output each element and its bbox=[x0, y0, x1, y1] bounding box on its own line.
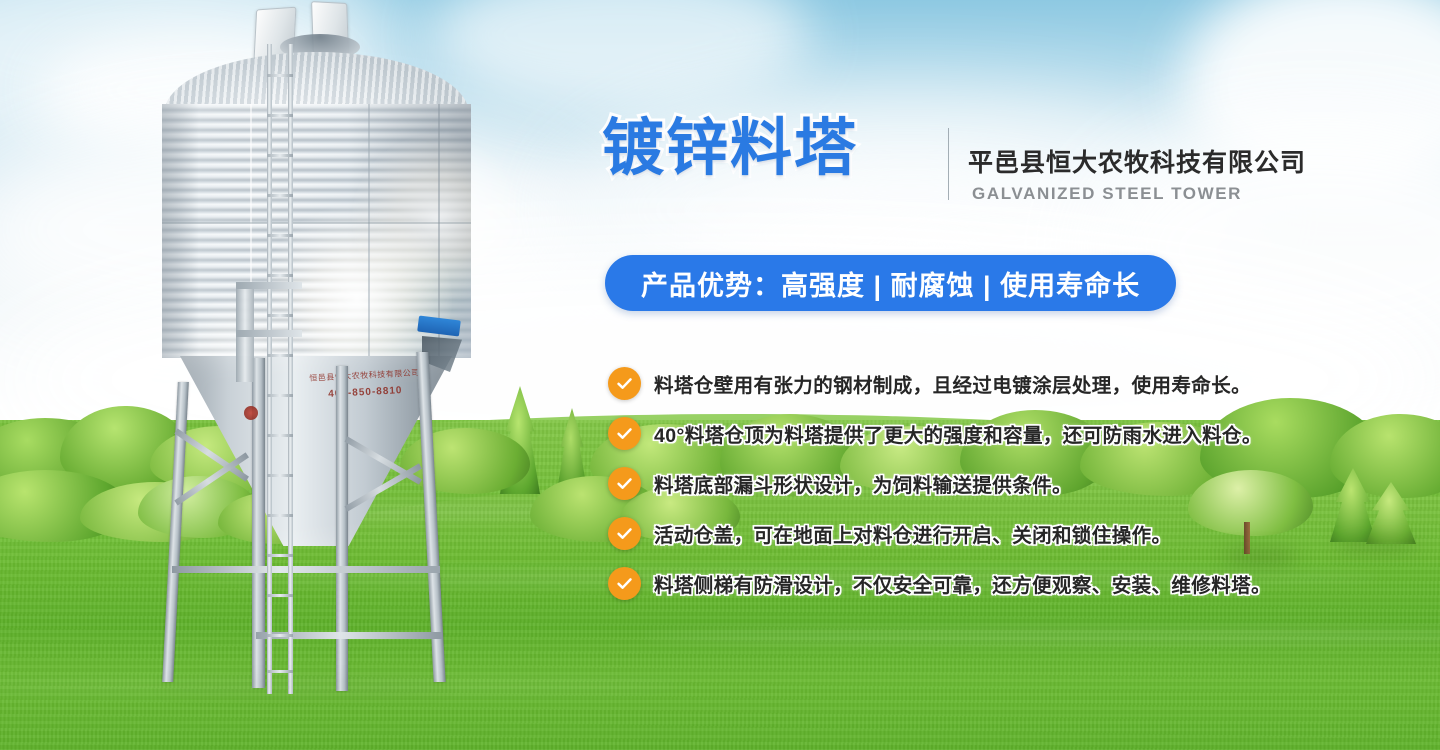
check-circle-icon bbox=[608, 567, 641, 600]
advantage-banner-text: 产品优势：高强度 | 耐腐蚀 | 使用寿命长 bbox=[641, 264, 1140, 303]
list-item: 料塔底部漏斗形状设计，为饲料输送提供条件。 bbox=[608, 458, 1428, 508]
company-name-english: GALVANIZED STEEL TOWER bbox=[972, 184, 1242, 204]
check-circle-icon bbox=[608, 367, 641, 400]
feature-text: 料塔底部漏斗形状设计，为饲料输送提供条件。 bbox=[654, 469, 1072, 498]
list-item: 料塔仓壁用有张力的钢材制成，且经过电镀涂层处理，使用寿命长。 bbox=[608, 358, 1428, 408]
feature-text: 料塔仓壁用有张力的钢材制成，且经过电镀涂层处理，使用寿命长。 bbox=[654, 369, 1251, 398]
feature-text: 料塔侧梯有防滑设计，不仅安全可靠，还方便观察、安装、维修料塔。 bbox=[654, 569, 1271, 598]
list-item: 活动仓盖，可在地面上对料仓进行开启、关闭和锁住操作。 bbox=[608, 508, 1428, 558]
check-circle-icon bbox=[608, 517, 641, 550]
hero-banner: 恒邑县恒大农牧科技有限公司 400-850-8810 bbox=[0, 0, 1440, 750]
check-circle-icon bbox=[608, 467, 641, 500]
page-title: 镀锌料塔 bbox=[602, 118, 858, 180]
company-name: 平邑县恒大农牧科技有限公司 bbox=[968, 143, 1306, 179]
check-circle-icon bbox=[608, 417, 641, 450]
advantage-banner: 产品优势：高强度 | 耐腐蚀 | 使用寿命长 bbox=[605, 255, 1176, 311]
list-item: 40°料塔仓顶为料塔提供了更大的强度和容量，还可防雨水进入料仓。 bbox=[608, 408, 1428, 458]
feature-text: 活动仓盖，可在地面上对料仓进行开启、关闭和锁住操作。 bbox=[654, 519, 1171, 548]
list-item: 料塔侧梯有防滑设计，不仅安全可靠，还方便观察、安装、维修料塔。 bbox=[608, 558, 1428, 608]
feature-list: 料塔仓壁用有张力的钢材制成，且经过电镀涂层处理，使用寿命长。 40°料塔仓顶为料… bbox=[608, 358, 1428, 608]
feature-text: 40°料塔仓顶为料塔提供了更大的强度和容量，还可防雨水进入料仓。 bbox=[654, 419, 1262, 448]
title-divider bbox=[948, 128, 949, 200]
